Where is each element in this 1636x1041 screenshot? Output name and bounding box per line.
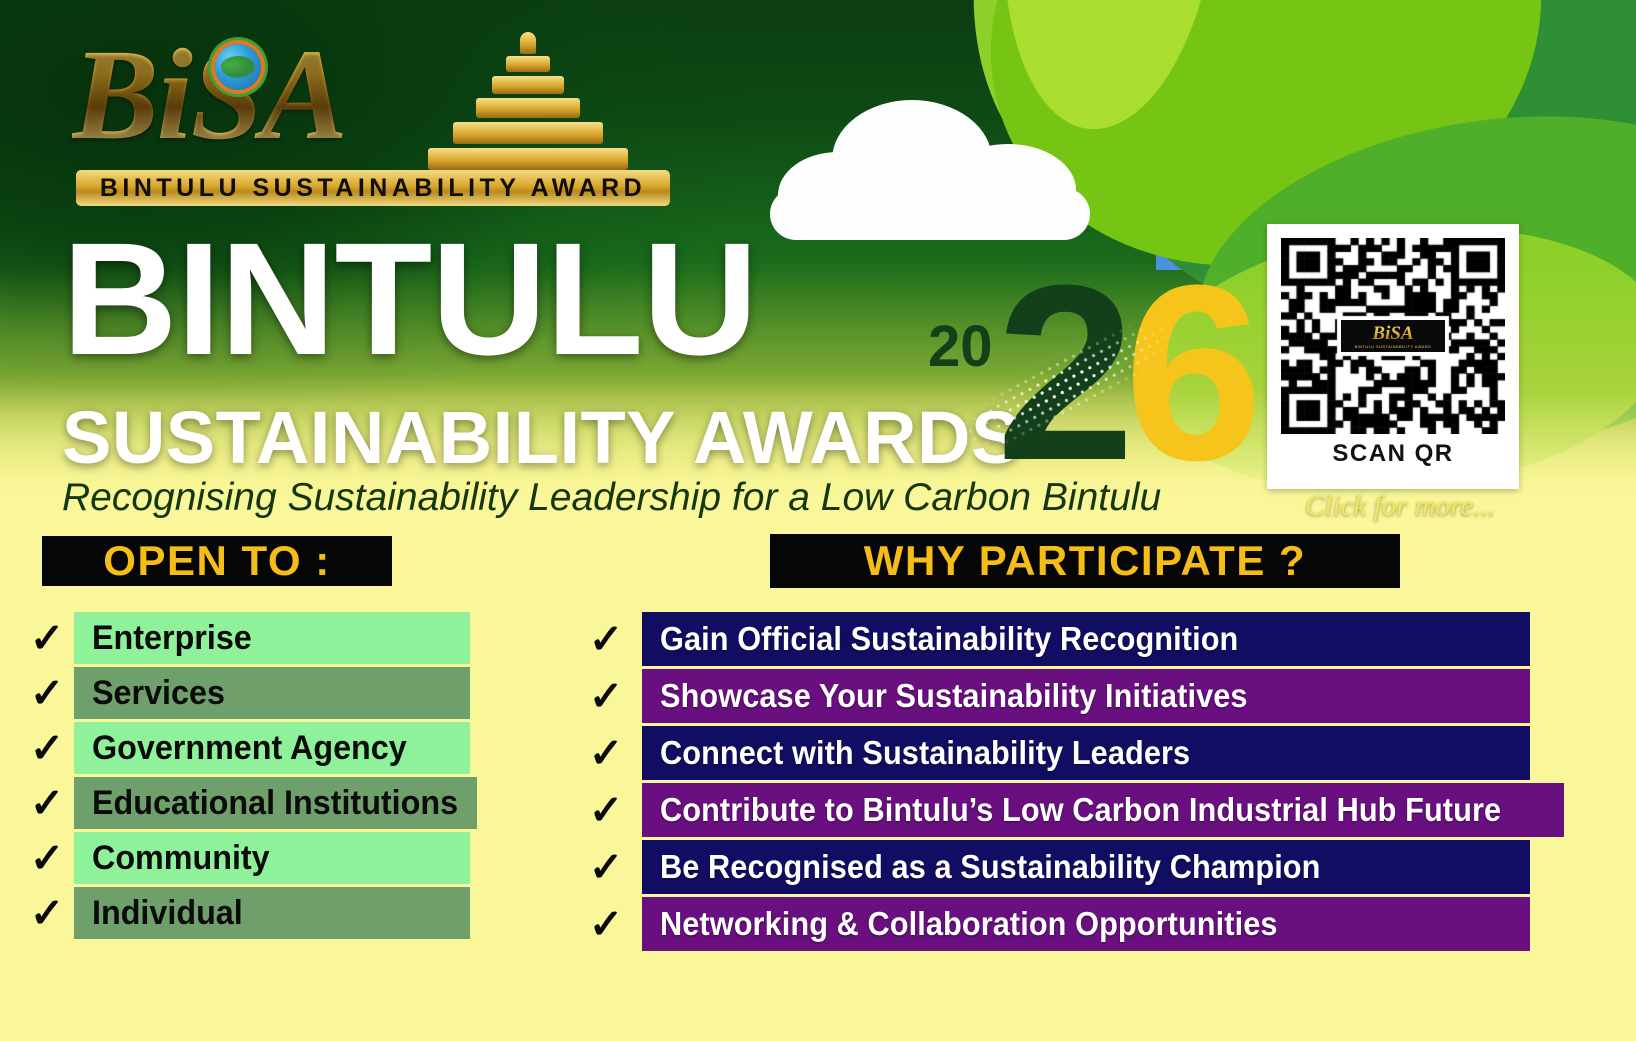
check-icon: ✓ <box>20 667 74 719</box>
why-participate-item-label: Gain Official Sustainability Recognition <box>660 620 1238 658</box>
why-participate-item-label: Connect with Sustainability Leaders <box>660 734 1190 772</box>
why-participate-item-label-bar: Connect with Sustainability Leaders <box>642 726 1530 780</box>
qr-code-card[interactable]: BiSA BINTULU SUSTAINABILITY AWARD SCAN Q… <box>1267 224 1519 489</box>
why-participate-list: ✓Gain Official Sustainability Recognitio… <box>570 612 1530 951</box>
click-for-more-link[interactable]: Click for more... <box>1265 490 1535 523</box>
open-to-item-label: Community <box>92 839 270 878</box>
list-item: ✓Individual <box>20 887 470 939</box>
tower-icon <box>428 30 628 170</box>
open-to-item-label: Educational Institutions <box>92 784 458 823</box>
check-icon: ✓ <box>20 777 74 829</box>
qr-logo-subtext: BINTULU SUSTAINABILITY AWARD <box>1355 344 1432 349</box>
open-to-item-label: Services <box>92 674 225 713</box>
logo-wordmark: BiSA <box>72 20 346 170</box>
why-participate-item-label: Be Recognised as a Sustainability Champi… <box>660 848 1320 886</box>
logo-badge: BINTULU SUSTAINABILITY AWARD <box>76 170 670 206</box>
qr-logo-wordmark: BiSA <box>1372 324 1413 343</box>
why-participate-item-label-bar: Showcase Your Sustainability Initiatives <box>642 669 1530 723</box>
list-item: ✓Services <box>20 667 470 719</box>
check-icon: ✓ <box>20 887 74 939</box>
why-participate-banner: WHY PARTICIPATE ? <box>770 534 1400 588</box>
globe-icon <box>215 44 261 90</box>
check-icon: ✓ <box>570 897 642 951</box>
list-item: ✓Community <box>20 832 470 884</box>
open-to-item-label-bar: Community <box>74 832 470 884</box>
bisa-logo: BiSA BINTULU SUSTAINABILITY AWARD <box>72 20 672 215</box>
open-to-item-label-bar: Enterprise <box>74 612 470 664</box>
check-icon: ✓ <box>570 612 642 666</box>
open-to-item-label: Enterprise <box>92 619 252 658</box>
open-to-banner-label: OPEN TO : <box>103 537 330 585</box>
why-participate-item-label: Networking & Collaboration Opportunities <box>660 905 1278 943</box>
logo-badge-label: BINTULU SUSTAINABILITY AWARD <box>100 174 646 203</box>
cloud-icon <box>770 100 1100 235</box>
check-icon: ✓ <box>570 726 642 780</box>
qr-embedded-logo: BiSA BINTULU SUSTAINABILITY AWARD <box>1341 320 1445 352</box>
qr-caption: SCAN QR <box>1281 440 1505 468</box>
why-participate-item-label-bar: Gain Official Sustainability Recognition <box>642 612 1530 666</box>
check-icon: ✓ <box>20 832 74 884</box>
check-icon: ✓ <box>20 612 74 664</box>
list-item: ✓Contribute to Bintulu’s Low Carbon Indu… <box>570 783 1530 837</box>
qr-code-image[interactable]: BiSA BINTULU SUSTAINABILITY AWARD <box>1281 238 1505 434</box>
check-icon: ✓ <box>570 669 642 723</box>
list-item: ✓Showcase Your Sustainability Initiative… <box>570 669 1530 723</box>
why-participate-item-label-bar: Be Recognised as a Sustainability Champi… <box>642 840 1530 894</box>
list-item: ✓Government Agency <box>20 722 470 774</box>
open-to-banner: OPEN TO : <box>42 536 392 586</box>
open-to-item-label: Individual <box>92 894 243 933</box>
why-participate-item-label: Contribute to Bintulu’s Low Carbon Indus… <box>660 791 1501 829</box>
year-2026-graphic: 2 6 20 <box>912 240 1222 500</box>
list-item: ✓Educational Institutions <box>20 777 470 829</box>
open-to-list: ✓Enterprise✓Services✓Government Agency✓E… <box>20 612 470 939</box>
list-item: ✓Enterprise <box>20 612 470 664</box>
open-to-item-label: Government Agency <box>92 729 407 768</box>
logo-mark: BiSA <box>72 20 672 172</box>
open-to-item-label-bar: Government Agency <box>74 722 470 774</box>
check-icon: ✓ <box>570 840 642 894</box>
why-participate-item-label-bar: Networking & Collaboration Opportunities <box>642 897 1530 951</box>
list-item: ✓Networking & Collaboration Opportunitie… <box>570 897 1530 951</box>
open-to-item-label-bar: Services <box>74 667 470 719</box>
open-to-item-label-bar: Educational Institutions <box>74 777 477 829</box>
list-item: ✓Be Recognised as a Sustainability Champ… <box>570 840 1530 894</box>
check-icon: ✓ <box>20 722 74 774</box>
open-to-item-label-bar: Individual <box>74 887 470 939</box>
list-item: ✓Connect with Sustainability Leaders <box>570 726 1530 780</box>
why-participate-item-label: Showcase Your Sustainability Initiatives <box>660 677 1248 715</box>
why-participate-banner-label: WHY PARTICIPATE ? <box>864 537 1306 585</box>
poster: BiSA BINTULU SUSTAINABILITY AWARD BINTUL… <box>0 0 1636 1041</box>
list-item: ✓Gain Official Sustainability Recognitio… <box>570 612 1530 666</box>
check-icon: ✓ <box>570 783 642 837</box>
why-participate-item-label-bar: Contribute to Bintulu’s Low Carbon Indus… <box>642 783 1564 837</box>
